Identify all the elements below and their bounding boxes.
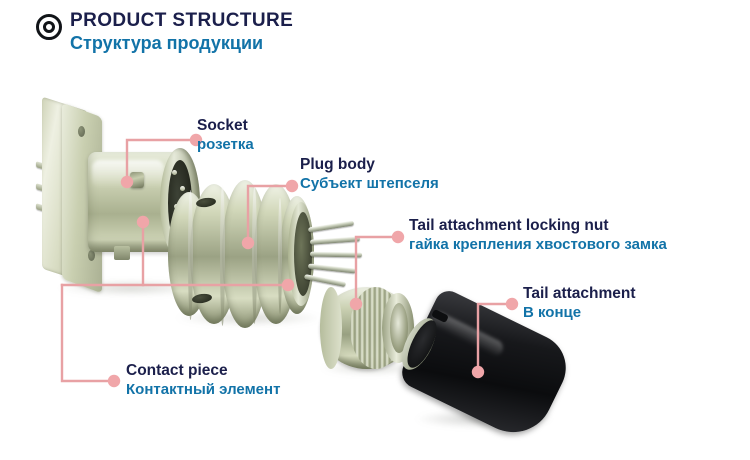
callout-label-plug-body[interactable]: Plug body Субъект штепселя [300,155,439,193]
leader-contact-branch-label [62,285,114,381]
product-structure-diagram: PRODUCT STRUCTURE Структура продукции [0,0,750,460]
callout-tail-attachment-en: Tail attachment [523,284,636,303]
socket-highlight [92,160,164,188]
plug-groove [220,184,225,326]
callout-dot-contact-label[interactable] [108,375,120,387]
callout-contact-piece-ru: Контактный элемент [126,380,280,399]
callout-plug-body-en: Plug body [300,155,439,174]
page-title-ru: Структура продукции [70,33,263,54]
callout-contact-piece-en: Contact piece [126,361,280,380]
contact-pin [310,252,362,258]
callout-dot-nut-label[interactable] [392,231,404,243]
callout-socket-ru: розетка [197,135,254,154]
callout-tail-attachment-ru: В конце [523,303,636,322]
concentric-rings-icon [36,14,62,40]
locking-nut-lip [320,287,342,369]
callout-plug-body-ru: Субъект штепселя [300,174,439,193]
contact-pin [308,220,354,232]
callout-locking-nut-en: Tail attachment locking nut [409,216,667,235]
plug-groove [278,198,282,314]
callout-socket-en: Socket [197,116,254,135]
callout-label-socket[interactable]: Socket розетка [197,116,254,154]
page-title-en: PRODUCT STRUCTURE [70,10,293,32]
callout-label-tail-attachment[interactable]: Tail attachment В конце [523,284,636,322]
plug-groove [252,186,257,324]
callout-label-locking-nut[interactable]: Tail attachment locking nut гайка крепле… [409,216,667,254]
contact-pin [310,236,360,244]
callout-label-contact-piece[interactable]: Contact piece Контактный элемент [126,361,280,399]
page-header: PRODUCT STRUCTURE Структура продукции [0,0,750,62]
socket-key-boss [114,246,130,260]
tail-attachment-part [404,306,580,446]
callout-locking-nut-ru: гайка крепления хвостового замка [409,235,667,254]
socket-contact [172,170,177,175]
socket-mounting-hole [78,126,85,137]
contact-pin [308,264,356,274]
socket-screw [130,172,144,188]
